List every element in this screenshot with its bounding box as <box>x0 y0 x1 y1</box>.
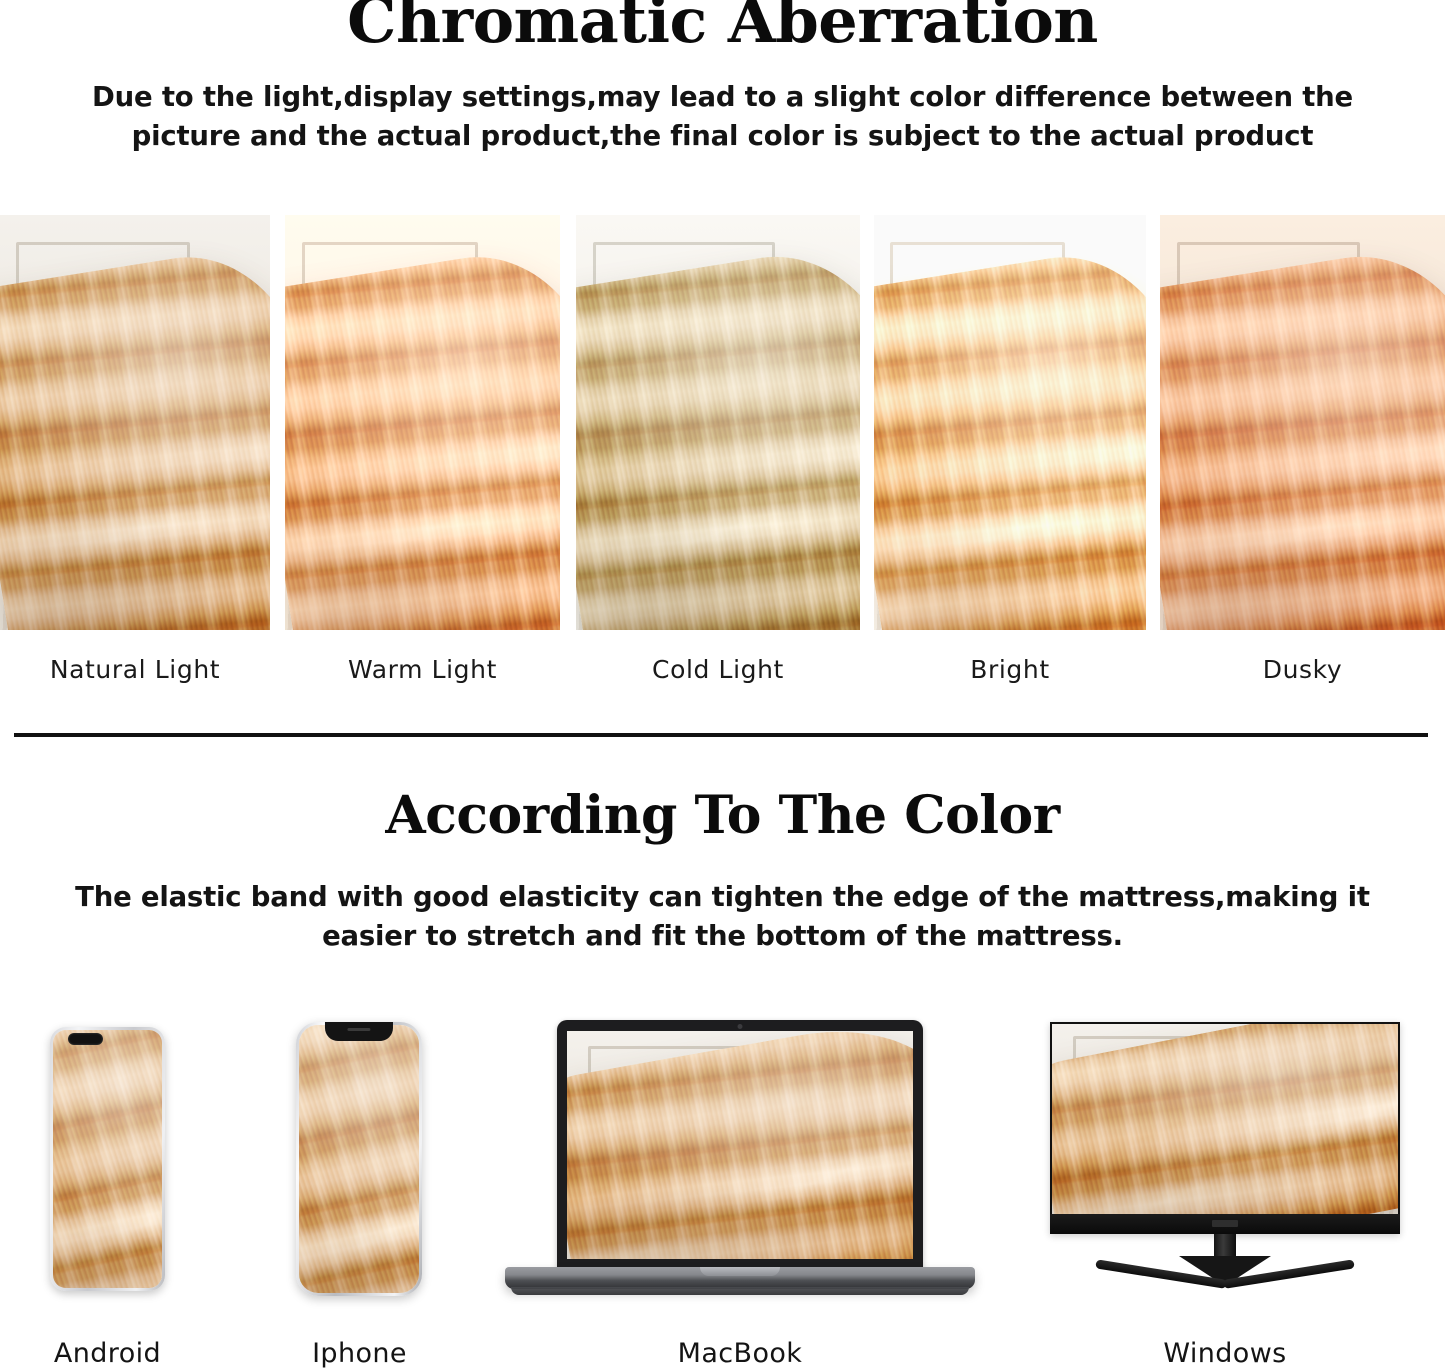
throw-blanket <box>874 240 1146 630</box>
iphone-notch-icon <box>325 1022 393 1041</box>
iphone-body <box>296 1022 422 1296</box>
lighting-label-warm-light: Warm Light <box>285 655 560 684</box>
throw-blanket <box>1160 239 1445 630</box>
device-mockup-android <box>50 1027 165 1291</box>
monitor-chin <box>1050 1214 1400 1234</box>
device-mockup-windows-monitor <box>1050 1022 1400 1300</box>
lighting-panel-warm-light <box>285 215 560 630</box>
section-divider <box>14 733 1428 737</box>
iphone-screen <box>299 1025 419 1293</box>
device-label-android: Android <box>20 1338 195 1369</box>
product-infographic: Chromatic Aberration Due to the light,di… <box>0 0 1445 1372</box>
lighting-comparison-strip <box>0 215 1445 630</box>
device-label-windows: Windows <box>1075 1338 1375 1369</box>
monitor-neck <box>1214 1234 1236 1258</box>
device-label-macbook: MacBook <box>565 1338 915 1369</box>
lighting-panel-cold-light <box>576 215 860 630</box>
webcam-icon <box>738 1024 743 1029</box>
throw-blanket <box>576 239 860 630</box>
according-to-color-title: According To The Color <box>0 790 1445 842</box>
monitor-stand-feet <box>1095 1280 1355 1300</box>
chromatic-aberration-subtitle: Due to the light,display settings,may le… <box>50 78 1395 156</box>
according-to-color-subtitle: The elastic band with good elasticity ca… <box>70 878 1375 956</box>
android-body <box>50 1027 165 1291</box>
lighting-label-bright: Bright <box>874 655 1146 684</box>
monitor-screen <box>1052 1024 1398 1214</box>
macbook-foot <box>511 1287 969 1295</box>
macbook-lid <box>557 1020 923 1273</box>
camera-punch-hole-icon <box>68 1033 103 1045</box>
throw-blanket <box>285 240 560 630</box>
monitor-frame <box>1050 1022 1400 1234</box>
lighting-label-dusky: Dusky <box>1160 655 1445 684</box>
lighting-panel-bright <box>874 215 1146 630</box>
lighting-panel-natural-light <box>0 215 270 630</box>
macbook-base <box>505 1267 975 1289</box>
lighting-label-cold-light: Cold Light <box>576 655 860 684</box>
macbook-screen <box>567 1031 913 1259</box>
lighting-label-natural-light: Natural Light <box>0 655 270 684</box>
throw-blanket <box>0 241 270 630</box>
lighting-panel-dusky <box>1160 215 1445 630</box>
chromatic-aberration-title: Chromatic Aberration <box>0 0 1445 52</box>
android-screen <box>53 1030 162 1288</box>
device-label-iphone: Iphone <box>272 1338 447 1369</box>
device-mockup-iphone <box>296 1022 422 1296</box>
device-mockup-macbook <box>505 1020 975 1305</box>
